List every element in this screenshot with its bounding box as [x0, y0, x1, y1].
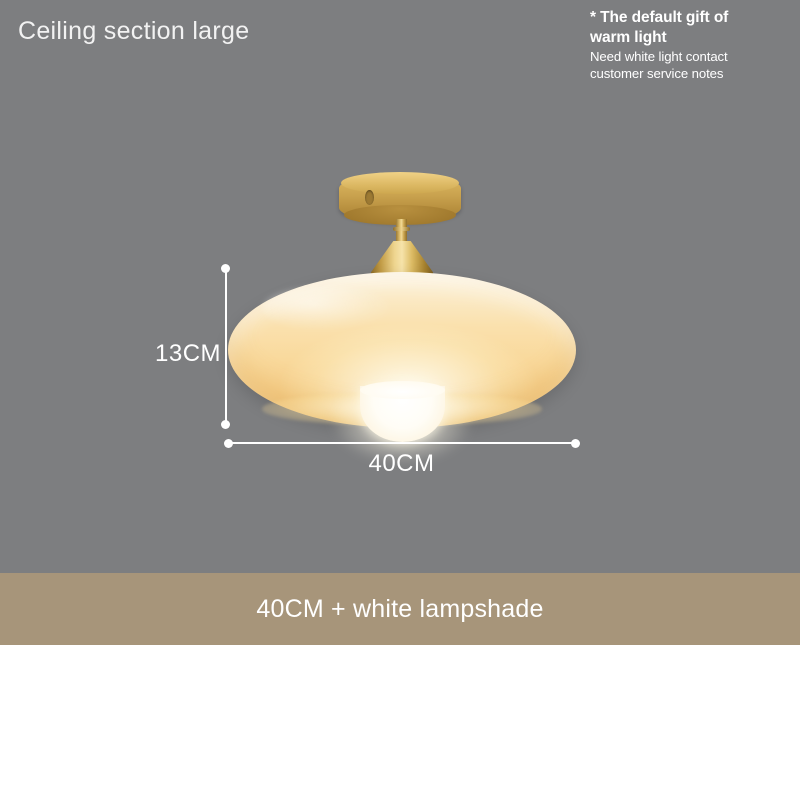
- glass-lampshade: [228, 272, 576, 428]
- warm-light-note: * The default gift of warm light Need wh…: [590, 8, 786, 83]
- product-spec-page: Ceiling section large * The default gift…: [0, 0, 800, 800]
- variant-banner: 40CM + white lampshade: [0, 573, 800, 645]
- note-line-1: * The default gift of: [590, 8, 786, 28]
- brass-canopy: [339, 174, 461, 222]
- brass-fitter-base: [370, 273, 434, 286]
- page-title: Ceiling section large: [18, 17, 249, 46]
- specification-table: -Material Hardware, glass -Application B…: [0, 645, 800, 800]
- width-dimension-label: 40CM: [228, 450, 575, 478]
- hero-image-panel: Ceiling section large * The default gift…: [0, 0, 800, 573]
- brass-cone-fitter: [371, 241, 433, 281]
- height-dimension-line: [225, 268, 227, 425]
- brass-stem: [396, 219, 407, 243]
- ceiling-lamp-illustration: [0, 0, 800, 573]
- canopy-screw-hole: [365, 190, 374, 205]
- height-dimension-dot-top: [221, 264, 230, 273]
- brass-canopy-top: [341, 172, 459, 194]
- brass-canopy-underside: [344, 205, 456, 225]
- note-line-2: warm light: [590, 28, 786, 48]
- lampshade-highlight: [262, 286, 390, 330]
- brass-stem-ring: [393, 227, 410, 231]
- light-bulb-dome: [360, 386, 445, 442]
- light-bulb-cap: [360, 381, 445, 399]
- lampshade-bottom-rim: [262, 392, 542, 426]
- note-line-3: Need white light contact: [590, 49, 786, 66]
- note-line-4: customer service notes: [590, 66, 786, 83]
- width-dimension-dot-left: [224, 439, 233, 448]
- variant-banner-text: 40CM + white lampshade: [256, 595, 543, 624]
- height-dimension-dot-bottom: [221, 420, 230, 429]
- height-dimension-label: 13CM: [155, 340, 221, 368]
- width-dimension-dot-right: [571, 439, 580, 448]
- width-dimension-line: [228, 442, 575, 444]
